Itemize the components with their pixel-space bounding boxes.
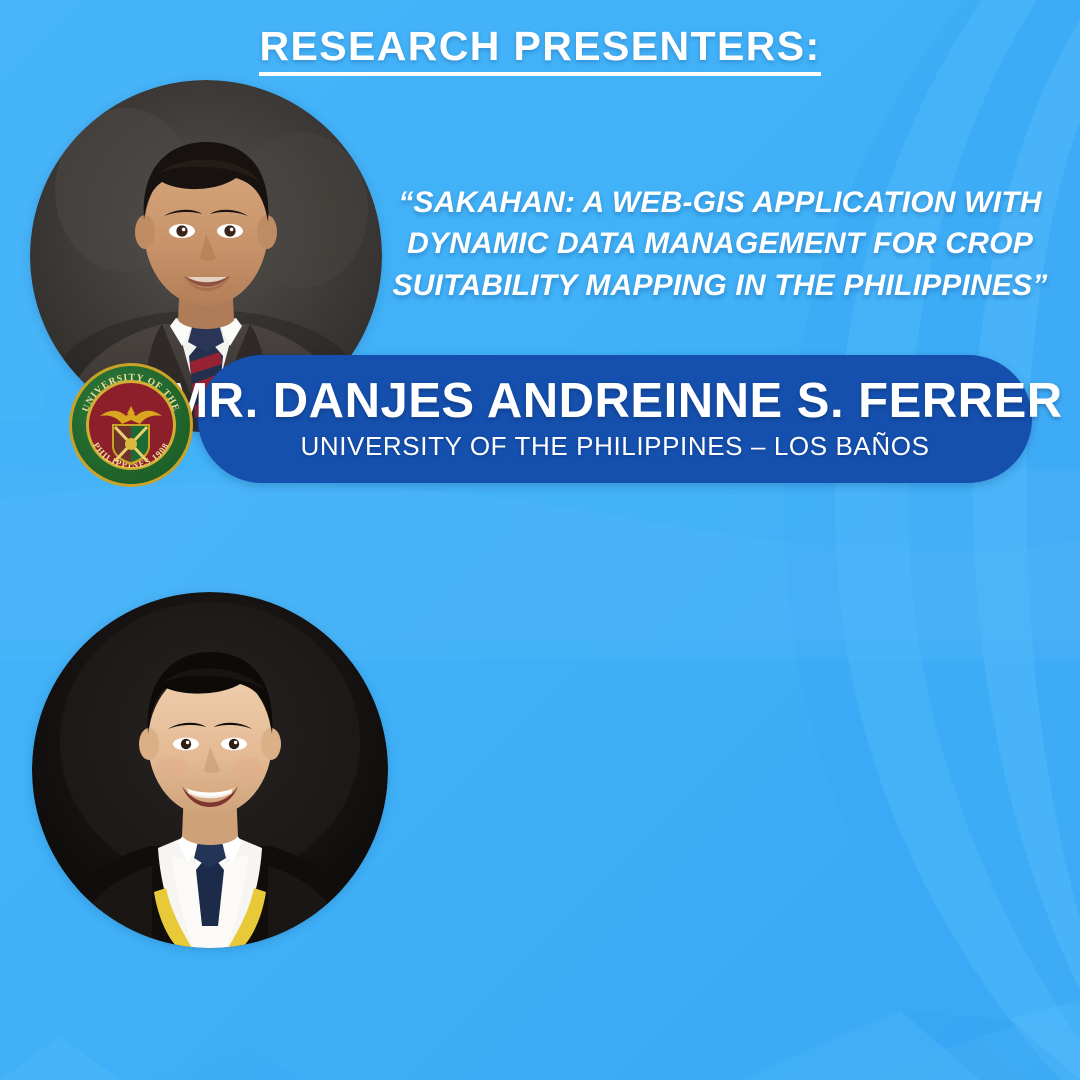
page-title: RESEARCH PRESENTERS: [259,26,820,76]
heading-container: RESEARCH PRESENTERS: [0,26,1080,76]
presenter-name-text-1: MR. DANJES ANDREINNE S. FERRER [167,376,1062,426]
presenter-affiliation-text-1: UNIVERSITY OF THE PHILIPPINES – LOS BAÑO… [300,431,929,462]
research-title-1: “SAKAHAN: A WEB-GIS APPLICATION WITH DYN… [380,182,1060,306]
presenter-block-2: “DISASTER RISK REDUCTION AND MANAGEMENT … [0,520,1080,1080]
research-presenters-poster: RESEARCH PRESENTERS: [0,0,1080,1080]
presenter-photo-2 [32,592,388,948]
university-of-the-philippines-seal-icon: UNIVERSITY OF THE PHILIPPINES 1908 [68,362,194,488]
presenter-name-banner-1: MR. DANJES ANDREINNE S. FERRER UNIVERSIT… [198,355,1032,483]
